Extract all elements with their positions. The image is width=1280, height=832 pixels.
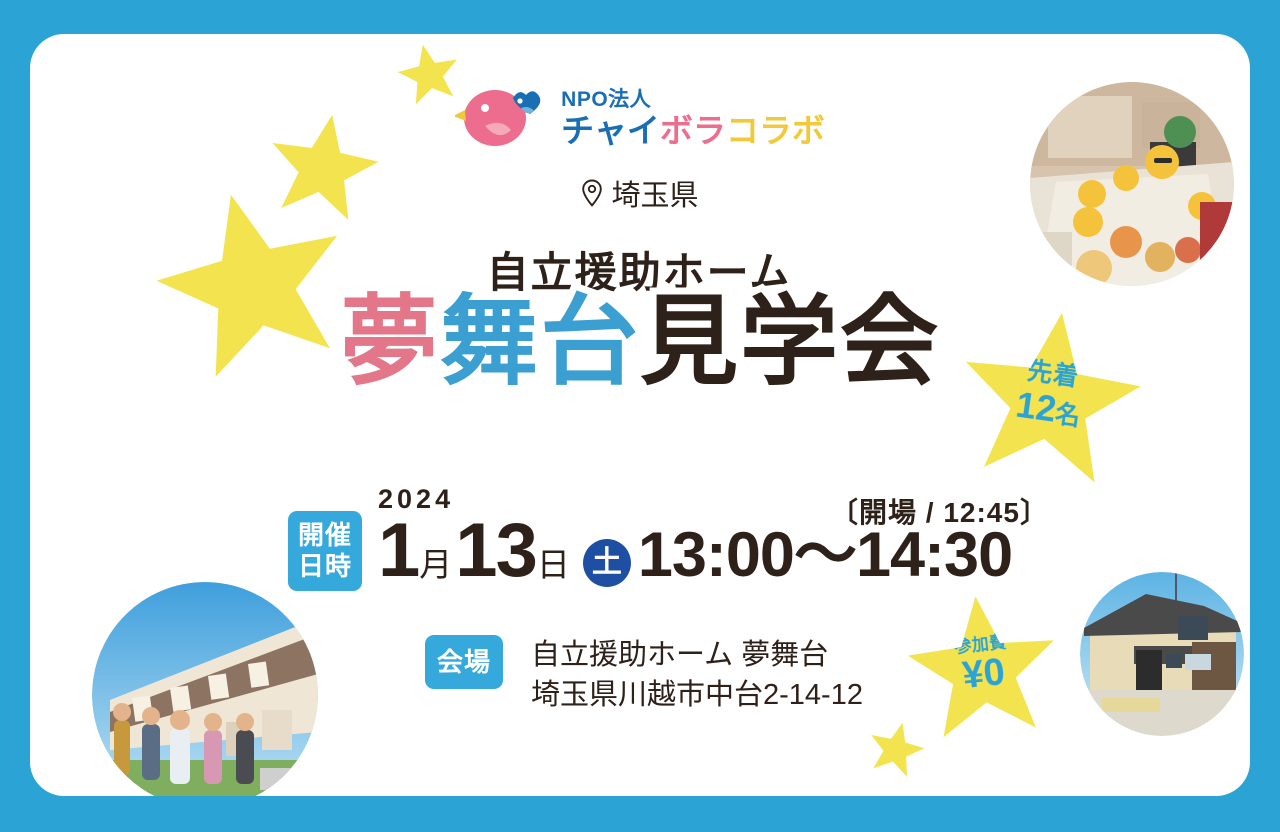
event-day-number: 13 [455,515,536,588]
logo-name-part3: コラボ [726,112,825,149]
datetime-tag-line1: 開催 [298,520,352,550]
location-pin-icon [581,179,603,207]
flyer-root: NPO法人 チャイボラコラボ 埼玉県 自立援助ホーム 夢舞台見学会 先着 [0,0,1280,832]
event-time-range: 13:00〜14:30 [638,525,1012,585]
flyer-card: NPO法人 チャイボラコラボ 埼玉県 自立援助ホーム 夢舞台見学会 先着 [30,34,1250,796]
venue-details: 自立援助ホーム 夢舞台 埼玉県川越市中台2-14-12 [531,635,863,715]
venue-address: 埼玉県川越市中台2-14-12 [531,675,863,715]
datetime-tag-line2: 日時 [298,551,352,582]
capacity-number: 12 [1013,384,1058,430]
event-title-part-kengakukai: 見学会 [640,286,940,396]
fee-badge-value: ¥0 [961,652,1007,696]
logo-name: チャイボラコラボ [561,113,825,149]
fee-badge: 参加費 ¥0 [901,589,1065,748]
event-month-number: 1 [378,515,418,588]
logo-name-part2: ボラ [660,112,726,149]
logo-name-part1: チャイ [561,112,660,149]
capacity-badge-value: 12名 [1014,386,1084,432]
datetime-tag: 開催 日時 [288,511,362,591]
capacity-unit: 名 [1053,400,1082,431]
venue-name: 自立援助ホーム 夢舞台 [531,635,863,675]
decorative-star-icon [862,716,929,782]
event-title-part-yume: 夢 [340,286,440,396]
doors-open-note: 〔開場 / 12:45〕 [830,491,1049,531]
home-exterior-photo [1080,572,1244,736]
venue-row: 会場 自立援助ホーム 夢舞台 埼玉県川越市中台2-14-12 [425,635,863,715]
logo-npo-label: NPO法人 [561,83,651,113]
group-party-photo [1030,82,1234,286]
event-title-part-butai: 舞台 [440,286,640,396]
event-month-unit: 月 [419,549,452,581]
residents-outside-building-photo [92,582,318,796]
prefecture-label: 埼玉県 [611,172,698,214]
venue-tag: 会場 [425,635,503,689]
event-day-unit: 日 [537,549,570,581]
day-of-week-badge: 土 [583,539,631,587]
bird-logo-icon [455,82,547,150]
